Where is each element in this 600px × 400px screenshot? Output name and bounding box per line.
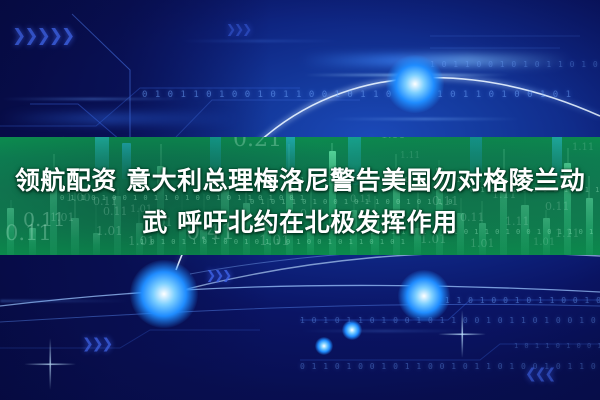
news-banner-image: 0 1 0 1 1 0 1 0 0 1 0 1 1 0 0 1 0 1 1 0 …: [0, 0, 600, 400]
headline-line-1: 领航配资 意大利总理梅洛尼警告美国勿对格陵兰动: [4, 160, 596, 202]
chart-value-label: 1.11: [381, 137, 406, 141]
headline-text: 领航配资 意大利总理梅洛尼警告美国勿对格陵兰动 武 呼吁北约在北极发挥作用: [0, 160, 600, 244]
headline-line-2: 武 呼吁北约在北极发挥作用: [4, 202, 596, 244]
chart-value-label: 0.21: [233, 137, 282, 152]
chart-value-label: 1.11: [572, 142, 594, 153]
